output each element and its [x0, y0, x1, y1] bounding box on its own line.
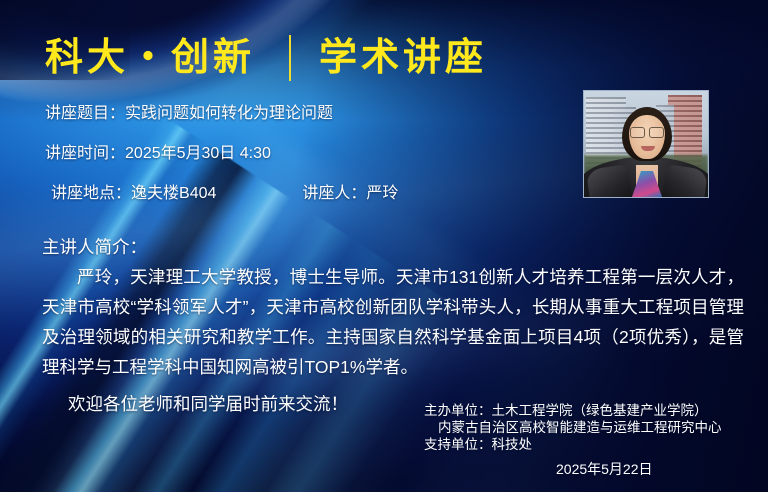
lecture-speaker-label: 讲座人： [302, 185, 366, 202]
lecture-time-label: 讲座时间： [45, 145, 125, 162]
lecture-topic-row: 讲座题目：实践问题如何转化为理论问题 [45, 106, 565, 122]
welcome-message: 欢迎各位老师和同学届时前来交流！ [68, 396, 348, 414]
lecture-place-label: 讲座地点： [51, 185, 131, 202]
title-divider [289, 35, 291, 81]
biography-heading: 主讲人简介： [42, 232, 744, 262]
title-main-text: 科大・创新 [45, 39, 255, 77]
lecture-place-speaker-row: 讲座地点：逸夫楼B404讲座人：严玲 [45, 186, 565, 202]
lecture-topic-label: 讲座题目： [45, 105, 125, 122]
footer-host-line-1: 主办单位：土木工程学院（绿色基建产业学院） [424, 402, 754, 419]
footer-support-line: 支持单位：科技处 [424, 436, 754, 453]
glasses-icon [630, 127, 664, 136]
lecture-info: 讲座题目：实践问题如何转化为理论问题 讲座时间：2025年5月30日 4:30 … [45, 106, 565, 202]
lecture-poster: 科大・创新 学术讲座 讲座题目：实践问题如何转化为理论问题 讲座时间：2025年… [0, 0, 768, 492]
footer-date: 2025年5月22日 [424, 461, 754, 478]
lecture-time-value: 2025年5月30日 4:30 [125, 145, 271, 162]
lecture-topic-value: 实践问题如何转化为理论问题 [125, 105, 333, 122]
poster-footer: 主办单位：土木工程学院（绿色基建产业学院） 内蒙古自治区高校智能建造与运维工程研… [424, 402, 754, 478]
lecture-speaker-value: 严玲 [366, 185, 398, 202]
poster-title: 科大・创新 学术讲座 [45, 30, 487, 86]
biography-text: 严玲，天津理工大学教授，博士生导师。天津市131创新人才培养工程第一层次人才，天… [42, 262, 744, 382]
footer-host-line-2: 内蒙古自治区高校智能建造与运维工程研究中心 [424, 419, 754, 436]
speaker-biography: 主讲人简介： 严玲，天津理工大学教授，博士生导师。天津市131创新人才培养工程第… [42, 232, 744, 382]
title-sub-text: 学术讲座 [319, 39, 487, 77]
lecture-place-value: 逸夫楼B404 [131, 185, 216, 202]
lecture-time-row: 讲座时间：2025年5月30日 4:30 [45, 146, 565, 162]
speaker-photo [583, 90, 709, 198]
